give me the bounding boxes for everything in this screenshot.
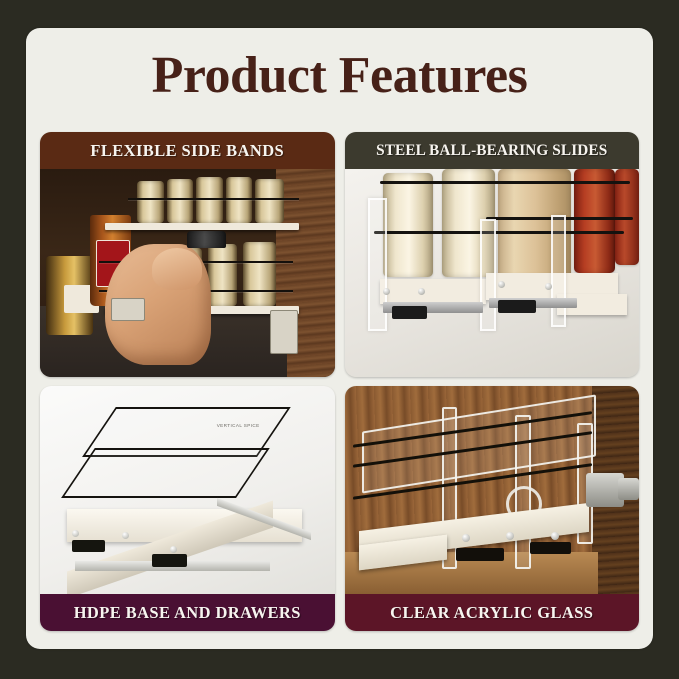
slide-bearing-block <box>498 300 536 312</box>
vertical-spice-logo: VERTICAL SPICE <box>217 423 260 428</box>
spice-jar <box>208 244 237 306</box>
spice-jar-cajun <box>383 173 433 277</box>
panel-label-flexible-side-bands: FLEXIBLE SIDE BANDS <box>40 132 335 169</box>
panel-label-clear-acrylic-glass: CLEAR ACRYLIC GLASS <box>345 594 640 631</box>
slide-bearing-block <box>456 548 503 560</box>
panel-clear-acrylic-glass[interactable]: CLEAR ACRYLIC GLASS <box>345 386 640 631</box>
slide-bearing-block <box>72 540 104 552</box>
panel-label-steel-ball-bearing-slides: STEEL BALL-BEARING SLIDES <box>345 132 640 169</box>
spice-jar <box>226 177 253 223</box>
spice-jar <box>255 179 284 223</box>
mounting-bracket <box>270 310 299 354</box>
panel-photo-clear-acrylic-glass <box>345 386 640 594</box>
slide-bearing-block <box>530 542 571 554</box>
slide-bearing-block <box>392 306 427 318</box>
acrylic-middle-plate <box>62 448 270 498</box>
photo-hdpe-base-assembly: VERTICAL SPICE <box>40 386 335 594</box>
photo-slide-hardware-closeup <box>345 169 640 377</box>
feature-card: Product Features FLEXIBLE SIDE BANDS <box>26 28 653 649</box>
panel-hdpe-base-and-drawers[interactable]: VERTICAL SPICE HDPE BASE AND DRAWERS <box>40 386 335 631</box>
slide-bearing-block <box>152 554 187 566</box>
cabinet-hinge <box>618 478 639 501</box>
spice-jar <box>196 177 223 223</box>
hdpe-drawer-base <box>380 279 486 304</box>
infographic-root: Product Features FLEXIBLE SIDE BANDS <box>0 0 679 679</box>
panel-label-hdpe-base-and-drawers: HDPE BASE AND DRAWERS <box>40 594 335 631</box>
spice-jar <box>167 179 194 223</box>
panel-steel-ball-bearing-slides[interactable]: STEEL BALL-BEARING SLIDES <box>345 132 640 377</box>
mounting-bolt <box>383 288 390 295</box>
panel-flexible-side-bands[interactable]: FLEXIBLE SIDE BANDS <box>40 132 335 377</box>
panel-photo-flexible-side-bands <box>40 169 335 377</box>
mounting-bracket <box>111 298 145 321</box>
mounting-bolt <box>72 530 79 537</box>
side-band-wire <box>128 198 299 200</box>
mounting-bolt <box>418 288 425 295</box>
upper-shelf <box>105 223 299 230</box>
spice-jar <box>137 181 164 223</box>
thumb <box>152 248 202 290</box>
photo-hand-pulling-rack <box>40 169 335 377</box>
features-grid: FLEXIBLE SIDE BANDS <box>40 132 639 631</box>
panel-photo-steel-ball-bearing-slides <box>345 169 640 377</box>
mounting-bolt <box>462 534 470 542</box>
acrylic-side-panel <box>551 215 567 327</box>
seasoning-box <box>574 169 615 273</box>
mounting-bolt <box>498 281 505 288</box>
panel-photo-hdpe-base-and-drawers: VERTICAL SPICE <box>40 386 335 594</box>
side-band-wire <box>374 231 624 234</box>
photo-acrylic-rack-in-cabinet <box>345 386 640 594</box>
page-title: Product Features <box>26 28 653 116</box>
spice-jar <box>243 242 275 306</box>
mounting-bolt <box>170 546 177 553</box>
acrylic-side-panel <box>480 219 496 331</box>
jar-cap-in-hand <box>187 231 225 248</box>
mounting-bolt <box>551 532 559 540</box>
